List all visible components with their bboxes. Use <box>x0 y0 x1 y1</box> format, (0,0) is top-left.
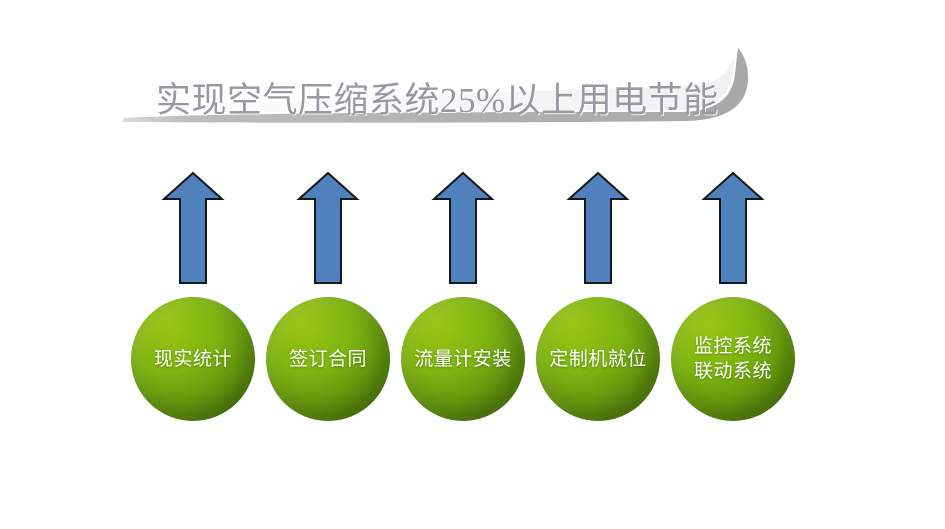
up-arrow-icon <box>565 170 631 286</box>
process-step-4[interactable]: 定制机就位 <box>530 0 666 529</box>
step-label-3: 流量计安装 <box>401 297 525 421</box>
process-step-5[interactable]: 监控系统 联动系统 <box>665 0 801 529</box>
step-label-2: 签订合同 <box>266 297 390 421</box>
step-circle-5[interactable]: 监控系统 联动系统 <box>671 297 795 421</box>
step-label-line: 签订合同 <box>289 347 367 372</box>
slide-canvas: 实现空气压缩系统25%以上用电节能 现实统计 签订合同 <box>0 0 945 529</box>
step-circle-1[interactable]: 现实统计 <box>131 297 255 421</box>
step-circle-3[interactable]: 流量计安装 <box>401 297 525 421</box>
process-steps-row: 现实统计 签订合同 流量计安装 <box>0 0 945 529</box>
up-arrow-icon <box>700 170 766 286</box>
step-label-line: 现实统计 <box>154 347 232 372</box>
step-label-line: 定制机就位 <box>549 347 647 372</box>
step-circle-4[interactable]: 定制机就位 <box>536 297 660 421</box>
step-label-1: 现实统计 <box>131 297 255 421</box>
process-step-1[interactable]: 现实统计 <box>125 0 261 529</box>
step-circle-2[interactable]: 签订合同 <box>266 297 390 421</box>
up-arrow-icon <box>160 170 226 286</box>
step-label-line: 联动系统 <box>694 359 772 384</box>
up-arrow-icon <box>430 170 496 286</box>
process-step-2[interactable]: 签订合同 <box>260 0 396 529</box>
step-label-4: 定制机就位 <box>536 297 660 421</box>
process-step-3[interactable]: 流量计安装 <box>395 0 531 529</box>
step-label-5: 监控系统 联动系统 <box>671 297 795 421</box>
step-label-line: 监控系统 <box>694 334 772 359</box>
step-label-line: 流量计安装 <box>414 347 512 372</box>
up-arrow-icon <box>295 170 361 286</box>
